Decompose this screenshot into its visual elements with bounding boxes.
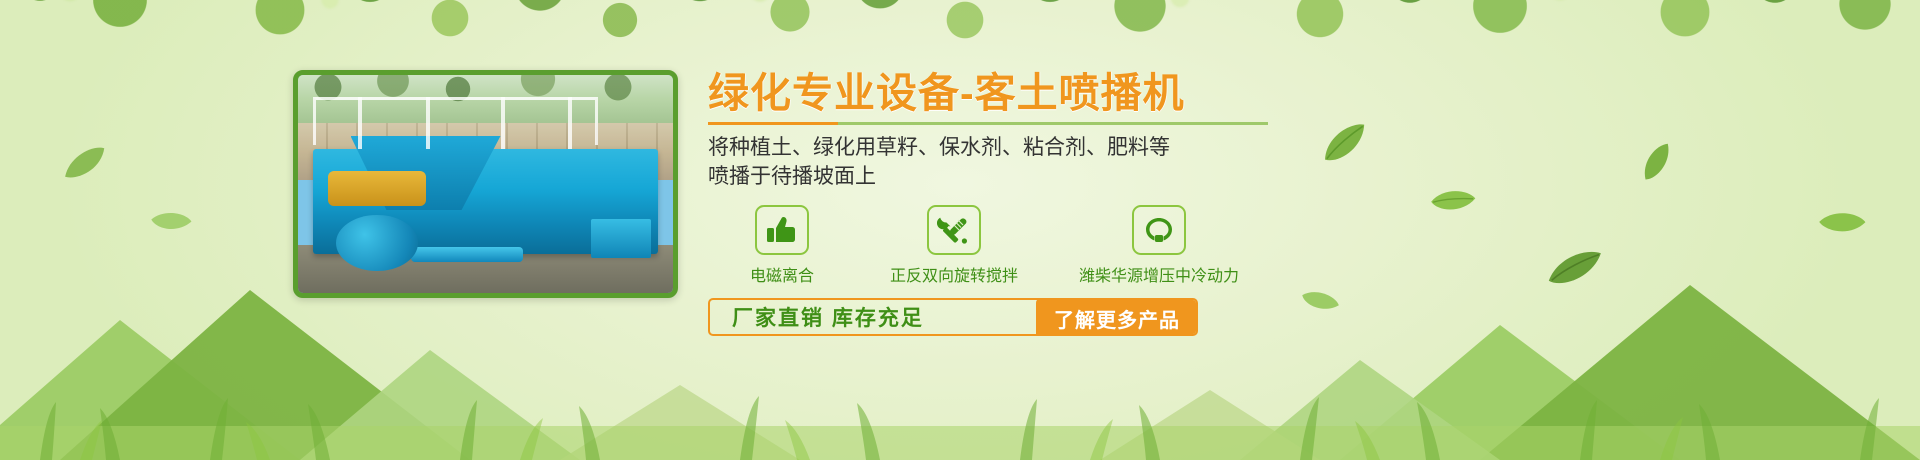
cta-slogan: 厂家直销 库存充足 bbox=[710, 302, 946, 332]
floating-leaf-icon bbox=[147, 203, 195, 240]
product-photo-content bbox=[298, 75, 673, 293]
floating-leaf-icon bbox=[1428, 183, 1479, 219]
divider-orange-segment bbox=[708, 122, 838, 125]
floating-leaf-icon bbox=[57, 143, 113, 184]
feature-list: 电磁离合 正反双向旋转搅拌 bbox=[708, 205, 1408, 286]
feature-label: 正反双向旋转搅拌 bbox=[856, 262, 1052, 286]
banner-content: 绿化专业设备-客土喷播机 将种植土、绿化用草籽、保水剂、粘合剂、肥料等 喷播于待… bbox=[708, 72, 1408, 336]
tools-icon bbox=[927, 205, 981, 255]
headline-divider bbox=[708, 122, 1268, 125]
feature-label: 潍柴华源增压中冷动力 bbox=[1052, 262, 1266, 286]
subline-2: 喷播于待播坡面上 bbox=[708, 163, 1408, 192]
floating-leaf-icon bbox=[1815, 203, 1869, 243]
grass-decoration bbox=[0, 350, 1920, 460]
feature-item-weichai-power: 潍柴华源增压中冷动力 bbox=[1052, 205, 1266, 286]
engine-icon bbox=[1132, 205, 1186, 255]
learn-more-button[interactable]: 了解更多产品 bbox=[1036, 298, 1198, 336]
feature-item-electromagnetic-clutch: 电磁离合 bbox=[708, 205, 856, 286]
feature-label: 电磁离合 bbox=[708, 262, 856, 286]
headline: 绿化专业设备-客土喷播机 bbox=[708, 72, 1408, 115]
floating-leaf-icon bbox=[1632, 139, 1681, 186]
subline-1: 将种植土、绿化用草籽、保水剂、粘合剂、肥料等 bbox=[708, 134, 1408, 163]
thumbs-up-icon bbox=[755, 205, 809, 255]
product-photo bbox=[293, 70, 678, 298]
feature-item-bidirectional-mixing: 正反双向旋转搅拌 bbox=[856, 205, 1052, 286]
divider-green-segment bbox=[838, 122, 1268, 125]
cta-bar: 厂家直销 库存充足 了解更多产品 bbox=[708, 298, 1198, 336]
floating-leaf-icon bbox=[1543, 247, 1608, 289]
promo-banner: 绿化专业设备-客土喷播机 将种植土、绿化用草籽、保水剂、粘合剂、肥料等 喷播于待… bbox=[0, 0, 1920, 460]
